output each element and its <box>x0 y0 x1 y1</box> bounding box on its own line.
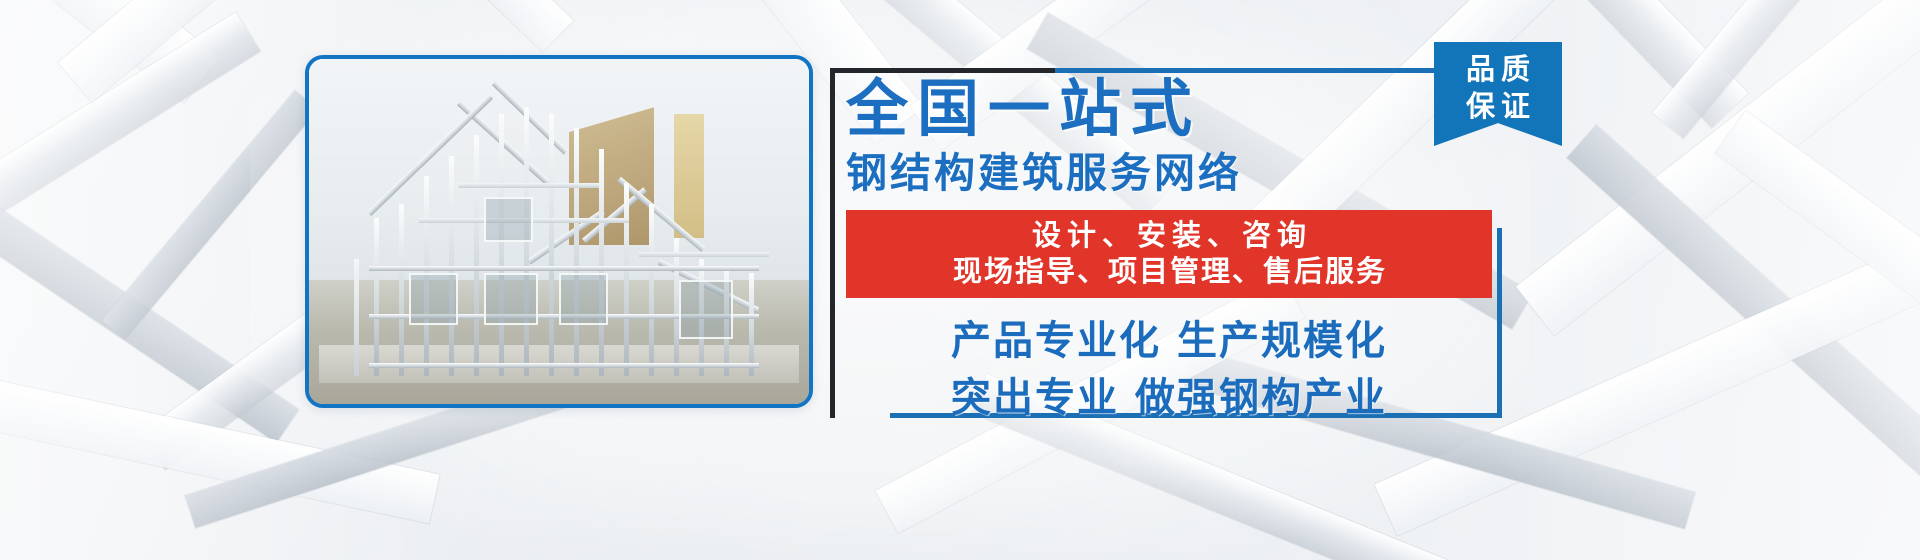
service-highlight-box: 设计、安装、咨询 现场指导、项目管理、售后服务 <box>846 210 1492 298</box>
promo-banner: 全国一站式 钢结构建筑服务网络 设计、安装、咨询 现场指导、项目管理、售后服务 … <box>0 0 1920 560</box>
service-line-1: 设计、安装、咨询 <box>1026 217 1312 253</box>
service-line-2: 现场指导、项目管理、售后服务 <box>951 253 1387 289</box>
slogan-line-2: 突出专业 做强钢构产业 <box>846 371 1492 426</box>
headline: 全国一站式 <box>846 76 1506 142</box>
project-photo-card <box>305 55 813 408</box>
subheadline: 钢结构建筑服务网络 <box>846 150 1506 196</box>
badge-line-1: 品质 <box>1460 51 1536 88</box>
banner-copy: 全国一站式 钢结构建筑服务网络 设计、安装、咨询 现场指导、项目管理、售后服务 … <box>846 76 1506 426</box>
project-photo <box>309 59 809 404</box>
slogan-line-1: 产品专业化 生产规模化 <box>846 314 1492 369</box>
badge-line-2: 保证 <box>1460 88 1536 125</box>
